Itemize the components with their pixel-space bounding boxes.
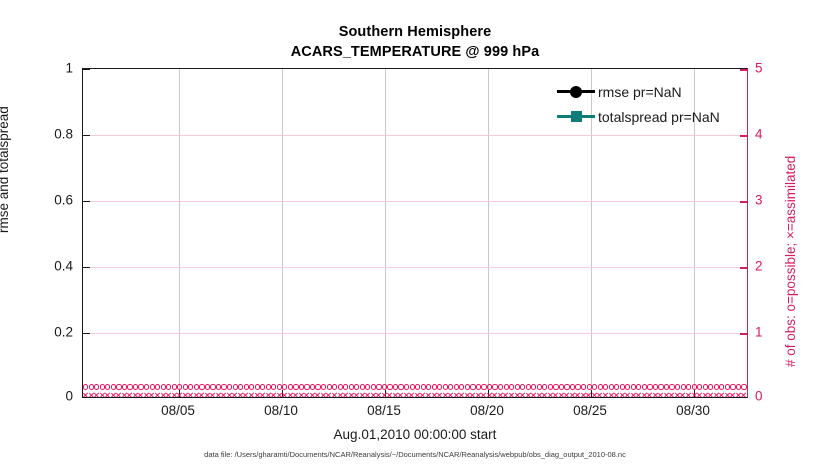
obs-assimilated-marker-icon xyxy=(105,392,111,398)
obs-possible-marker-icon xyxy=(686,384,691,389)
obs-marker xyxy=(337,383,343,391)
obs-marker xyxy=(221,391,227,398)
obs-assimilated-marker-icon xyxy=(442,392,448,398)
obs-assimilated-marker-icon xyxy=(376,392,382,398)
obs-marker xyxy=(354,391,360,398)
obs-marker xyxy=(94,383,100,391)
obs-possible-marker-icon xyxy=(199,384,204,389)
obs-assimilated-marker-icon xyxy=(674,392,680,398)
x-tick xyxy=(591,390,592,397)
legend-swatch-totalspread xyxy=(556,108,596,126)
obs-assimilated-marker-icon xyxy=(475,392,481,398)
obs-possible-marker-icon xyxy=(404,384,409,389)
obs-possible-marker-icon xyxy=(216,384,221,389)
obs-marker xyxy=(133,391,139,398)
obs-marker xyxy=(133,383,139,391)
x-tick xyxy=(179,390,180,397)
obs-marker xyxy=(100,391,106,398)
obs-possible-marker-icon xyxy=(205,384,210,389)
obs-assimilated-marker-icon xyxy=(453,392,459,398)
obs-marker xyxy=(221,383,227,391)
obs-marker xyxy=(603,383,609,391)
obs-marker xyxy=(431,391,437,398)
obs-possible-marker-icon xyxy=(515,384,520,389)
obs-assimilated-marker-icon xyxy=(708,392,714,398)
obs-marker xyxy=(498,383,504,391)
obs-marker xyxy=(730,391,736,398)
obs-assimilated-marker-icon xyxy=(370,392,376,398)
obs-assimilated-marker-icon xyxy=(99,392,105,398)
obs-assimilated-marker-icon xyxy=(237,392,243,398)
obs-assimilated-marker-icon xyxy=(658,392,664,398)
y-axis-title-left: rmse and totalspread xyxy=(0,106,11,233)
obs-marker xyxy=(470,391,476,398)
obs-marker xyxy=(653,383,659,391)
obs-possible-marker-icon xyxy=(459,384,464,389)
data-file-note: data file: /Users/gharamti/Documents/NCA… xyxy=(82,450,748,459)
obs-assimilated-marker-icon xyxy=(508,392,514,398)
obs-marker xyxy=(620,383,626,391)
obs-marker xyxy=(443,391,449,398)
obs-assimilated-marker-icon xyxy=(470,392,476,398)
obs-possible-marker-icon xyxy=(542,384,547,389)
obs-possible-marker-icon xyxy=(371,384,376,389)
obs-marker xyxy=(376,383,382,391)
obs-possible-marker-icon xyxy=(233,384,238,389)
obs-marker xyxy=(537,391,543,398)
obs-marker xyxy=(216,391,222,398)
obs-assimilated-marker-icon xyxy=(265,392,271,398)
obs-assimilated-marker-icon xyxy=(685,392,691,398)
obs-marker xyxy=(719,383,725,391)
obs-marker xyxy=(127,391,133,398)
obs-marker xyxy=(138,391,144,398)
obs-marker xyxy=(254,383,260,391)
obs-marker xyxy=(503,391,509,398)
obs-assimilated-marker-icon xyxy=(359,392,365,398)
obs-marker xyxy=(465,391,471,398)
obs-possible-marker-icon xyxy=(310,384,315,389)
obs-marker xyxy=(481,391,487,398)
obs-marker xyxy=(232,383,238,391)
obs-possible-marker-icon xyxy=(537,384,542,389)
legend-item-totalspread[interactable]: totalspread pr=NaN xyxy=(556,107,720,126)
obs-possible-marker-icon xyxy=(332,384,337,389)
obs-marker xyxy=(122,391,128,398)
obs-marker xyxy=(542,391,548,398)
y-axis-label-right: 2 xyxy=(755,259,763,274)
obs-assimilated-marker-icon xyxy=(641,392,647,398)
obs-marker xyxy=(636,391,642,398)
obs-possible-marker-icon xyxy=(94,384,99,389)
obs-marker xyxy=(526,391,532,398)
obs-marker xyxy=(299,391,305,398)
obs-assimilated-marker-icon xyxy=(597,392,603,398)
obs-possible-marker-icon xyxy=(398,384,403,389)
x-tick xyxy=(282,390,283,397)
obs-marker xyxy=(254,391,260,398)
obs-assimilated-marker-icon xyxy=(697,392,703,398)
obs-marker xyxy=(631,383,637,391)
gridline-horizontal xyxy=(83,135,747,136)
legend-item-rmse[interactable]: rmse pr=NaN xyxy=(556,82,720,101)
obs-marker xyxy=(144,391,150,398)
obs-marker xyxy=(719,391,725,398)
obs-possible-marker-icon xyxy=(376,384,381,389)
obs-possible-marker-icon xyxy=(260,384,265,389)
obs-assimilated-marker-icon xyxy=(121,392,127,398)
obs-possible-marker-icon xyxy=(89,384,94,389)
y-tick-right xyxy=(740,201,747,203)
obs-possible-marker-icon xyxy=(736,384,741,389)
obs-possible-marker-icon xyxy=(553,384,558,389)
obs-marker xyxy=(725,391,731,398)
obs-marker xyxy=(642,391,648,398)
obs-marker xyxy=(531,383,537,391)
obs-marker xyxy=(183,391,189,398)
obs-marker xyxy=(393,391,399,398)
obs-assimilated-marker-icon xyxy=(591,392,597,398)
obs-assimilated-marker-icon xyxy=(226,392,232,398)
obs-marker xyxy=(459,383,465,391)
obs-possible-marker-icon xyxy=(581,384,586,389)
obs-possible-marker-icon xyxy=(282,384,287,389)
obs-assimilated-marker-icon xyxy=(713,392,719,398)
obs-possible-marker-icon xyxy=(498,384,503,389)
obs-marker xyxy=(387,383,393,391)
obs-possible-marker-icon xyxy=(653,384,658,389)
obs-marker xyxy=(205,391,211,398)
obs-marker xyxy=(608,383,614,391)
obs-assimilated-marker-icon xyxy=(116,392,122,398)
obs-marker xyxy=(603,391,609,398)
obs-marker xyxy=(343,383,349,391)
obs-marker xyxy=(708,383,714,391)
obs-marker xyxy=(293,391,299,398)
obs-assimilated-marker-icon xyxy=(254,392,260,398)
obs-marker xyxy=(548,391,554,398)
x-tick xyxy=(488,390,489,397)
obs-assimilated-marker-icon xyxy=(143,392,149,398)
obs-row-possible xyxy=(83,383,747,391)
obs-marker xyxy=(503,383,509,391)
obs-possible-marker-icon xyxy=(150,384,155,389)
obs-assimilated-marker-icon xyxy=(249,392,255,398)
obs-marker xyxy=(459,391,465,398)
y-axis-label-left: 0.2 xyxy=(54,325,73,340)
obs-assimilated-marker-icon xyxy=(94,392,100,398)
obs-marker-band xyxy=(83,383,747,398)
obs-marker xyxy=(736,383,742,391)
obs-assimilated-marker-icon xyxy=(326,392,332,398)
obs-marker xyxy=(664,391,670,398)
obs-assimilated-marker-icon xyxy=(553,392,559,398)
obs-marker xyxy=(299,383,305,391)
square-marker-icon xyxy=(571,111,582,122)
obs-marker xyxy=(680,391,686,398)
obs-assimilated-marker-icon xyxy=(210,392,216,398)
y-axis-label-right: 1 xyxy=(755,325,763,340)
obs-assimilated-marker-icon xyxy=(271,392,277,398)
obs-assimilated-marker-icon xyxy=(547,392,553,398)
obs-marker xyxy=(714,383,720,391)
obs-possible-marker-icon xyxy=(548,384,553,389)
obs-marker xyxy=(597,383,603,391)
obs-possible-marker-icon xyxy=(194,384,199,389)
obs-assimilated-marker-icon xyxy=(204,392,210,398)
obs-marker xyxy=(415,383,421,391)
obs-marker xyxy=(642,383,648,391)
obs-row-assimilated xyxy=(83,391,747,398)
obs-marker xyxy=(498,391,504,398)
obs-marker xyxy=(271,391,277,398)
obs-marker xyxy=(680,383,686,391)
obs-possible-marker-icon xyxy=(448,384,453,389)
obs-possible-marker-icon xyxy=(244,384,249,389)
obs-possible-marker-icon xyxy=(559,384,564,389)
x-axis-label: 08/30 xyxy=(676,403,710,418)
obs-marker xyxy=(227,383,233,391)
obs-marker xyxy=(675,391,681,398)
obs-marker xyxy=(454,391,460,398)
obs-assimilated-marker-icon xyxy=(481,392,487,398)
obs-assimilated-marker-icon xyxy=(564,392,570,398)
obs-marker xyxy=(243,383,249,391)
obs-marker xyxy=(703,383,709,391)
obs-possible-marker-icon xyxy=(166,384,171,389)
obs-marker xyxy=(620,391,626,398)
y-axis-label-left: 0.4 xyxy=(54,259,73,274)
obs-possible-marker-icon xyxy=(255,384,260,389)
obs-marker xyxy=(675,383,681,391)
obs-assimilated-marker-icon xyxy=(315,392,321,398)
obs-marker xyxy=(465,383,471,391)
obs-possible-marker-icon xyxy=(741,384,746,389)
obs-marker xyxy=(697,383,703,391)
obs-assimilated-marker-icon xyxy=(365,392,371,398)
obs-possible-marker-icon xyxy=(105,384,110,389)
gridline-horizontal xyxy=(83,267,747,268)
obs-marker xyxy=(304,383,310,391)
obs-assimilated-marker-icon xyxy=(614,392,620,398)
obs-assimilated-marker-icon xyxy=(132,392,138,398)
obs-possible-marker-icon xyxy=(188,384,193,389)
obs-assimilated-marker-icon xyxy=(431,392,437,398)
obs-marker xyxy=(636,383,642,391)
obs-possible-marker-icon xyxy=(138,384,143,389)
obs-possible-marker-icon xyxy=(470,384,475,389)
obs-marker xyxy=(426,391,432,398)
obs-possible-marker-icon xyxy=(426,384,431,389)
gridline-horizontal xyxy=(83,333,747,334)
obs-marker xyxy=(415,391,421,398)
obs-assimilated-marker-icon xyxy=(154,392,160,398)
obs-marker xyxy=(409,383,415,391)
obs-possible-marker-icon xyxy=(227,384,232,389)
y-axis-label-right: 5 xyxy=(755,61,763,76)
obs-marker xyxy=(160,391,166,398)
obs-marker xyxy=(387,391,393,398)
circle-marker-icon xyxy=(570,86,582,98)
obs-marker xyxy=(697,391,703,398)
obs-marker xyxy=(349,383,355,391)
obs-assimilated-marker-icon xyxy=(730,392,736,398)
obs-marker xyxy=(116,383,122,391)
y-tick-right xyxy=(740,397,747,398)
obs-possible-marker-icon xyxy=(432,384,437,389)
obs-possible-marker-icon xyxy=(730,384,735,389)
obs-assimilated-marker-icon xyxy=(569,392,575,398)
obs-marker xyxy=(232,391,238,398)
obs-marker xyxy=(321,391,327,398)
obs-assimilated-marker-icon xyxy=(647,392,653,398)
obs-assimilated-marker-icon xyxy=(293,392,299,398)
obs-marker xyxy=(448,391,454,398)
obs-assimilated-marker-icon xyxy=(160,392,166,398)
obs-assimilated-marker-icon xyxy=(741,392,747,398)
obs-marker xyxy=(454,383,460,391)
obs-marker xyxy=(249,391,255,398)
obs-marker xyxy=(266,391,272,398)
obs-possible-marker-icon xyxy=(266,384,271,389)
obs-assimilated-marker-icon xyxy=(304,392,310,398)
obs-marker xyxy=(647,391,653,398)
obs-marker xyxy=(155,391,161,398)
obs-marker xyxy=(83,383,89,391)
obs-assimilated-marker-icon xyxy=(414,392,420,398)
obs-possible-marker-icon xyxy=(354,384,359,389)
y-tick-right xyxy=(740,333,747,335)
obs-assimilated-marker-icon xyxy=(127,392,133,398)
obs-marker xyxy=(349,391,355,398)
obs-assimilated-marker-icon xyxy=(398,392,404,398)
x-axis-label: 08/10 xyxy=(264,403,298,418)
obs-possible-marker-icon xyxy=(111,384,116,389)
obs-assimilated-marker-icon xyxy=(702,392,708,398)
obs-possible-marker-icon xyxy=(127,384,132,389)
obs-marker xyxy=(166,391,172,398)
obs-possible-marker-icon xyxy=(714,384,719,389)
obs-marker xyxy=(553,383,559,391)
obs-assimilated-marker-icon xyxy=(580,392,586,398)
obs-marker xyxy=(116,391,122,398)
obs-marker xyxy=(570,391,576,398)
obs-possible-marker-icon xyxy=(304,384,309,389)
obs-possible-marker-icon xyxy=(365,384,370,389)
y-axis-label-left: 0 xyxy=(65,389,73,404)
obs-marker xyxy=(526,383,532,391)
obs-marker xyxy=(94,391,100,398)
obs-assimilated-marker-icon xyxy=(514,392,520,398)
obs-marker xyxy=(188,391,194,398)
obs-assimilated-marker-icon xyxy=(110,392,116,398)
obs-marker xyxy=(105,383,111,391)
obs-marker xyxy=(304,391,310,398)
legend-swatch-rmse xyxy=(556,83,596,101)
obs-possible-marker-icon xyxy=(504,384,509,389)
obs-possible-marker-icon xyxy=(443,384,448,389)
obs-possible-marker-icon xyxy=(725,384,730,389)
x-axis-label: 08/15 xyxy=(367,403,401,418)
obs-assimilated-marker-icon xyxy=(652,392,658,398)
obs-possible-marker-icon xyxy=(421,384,426,389)
obs-assimilated-marker-icon xyxy=(575,392,581,398)
obs-marker xyxy=(608,391,614,398)
obs-marker xyxy=(326,383,332,391)
legend-label-rmse: rmse pr=NaN xyxy=(596,84,682,100)
obs-marker xyxy=(509,383,515,391)
obs-marker xyxy=(437,391,443,398)
y-axis-label-right: 3 xyxy=(755,193,763,208)
x-axis-label: 08/05 xyxy=(161,403,195,418)
obs-possible-marker-icon xyxy=(293,384,298,389)
obs-marker xyxy=(443,383,449,391)
obs-assimilated-marker-icon xyxy=(426,392,432,398)
obs-marker xyxy=(409,391,415,398)
obs-marker xyxy=(420,391,426,398)
obs-possible-marker-icon xyxy=(393,384,398,389)
obs-marker xyxy=(155,383,161,391)
obs-assimilated-marker-icon xyxy=(331,392,337,398)
obs-marker xyxy=(122,383,128,391)
obs-marker xyxy=(343,391,349,398)
obs-marker xyxy=(686,391,692,398)
obs-possible-marker-icon xyxy=(592,384,597,389)
obs-marker xyxy=(89,383,95,391)
obs-assimilated-marker-icon xyxy=(337,392,343,398)
obs-assimilated-marker-icon xyxy=(625,392,631,398)
obs-possible-marker-icon xyxy=(288,384,293,389)
obs-marker xyxy=(266,383,272,391)
obs-marker xyxy=(614,391,620,398)
obs-assimilated-marker-icon xyxy=(193,392,199,398)
obs-possible-marker-icon xyxy=(144,384,149,389)
obs-marker xyxy=(315,391,321,398)
obs-assimilated-marker-icon xyxy=(420,392,426,398)
obs-assimilated-marker-icon xyxy=(403,392,409,398)
obs-marker xyxy=(354,383,360,391)
obs-possible-marker-icon xyxy=(625,384,630,389)
obs-marker xyxy=(326,391,332,398)
obs-marker xyxy=(686,383,692,391)
obs-possible-marker-icon xyxy=(343,384,348,389)
obs-marker xyxy=(476,391,482,398)
chart-subtitle: ACARS_TEMPERATURE @ 999 hPa xyxy=(82,42,748,62)
obs-marker xyxy=(553,391,559,398)
obs-marker xyxy=(100,383,106,391)
obs-marker xyxy=(271,383,277,391)
obs-marker xyxy=(664,383,670,391)
obs-assimilated-marker-icon xyxy=(320,392,326,398)
obs-marker xyxy=(404,391,410,398)
obs-assimilated-marker-icon xyxy=(199,392,205,398)
obs-marker xyxy=(592,383,598,391)
obs-marker xyxy=(631,391,637,398)
obs-assimilated-marker-icon xyxy=(663,392,669,398)
obs-marker xyxy=(183,383,189,391)
obs-marker xyxy=(321,383,327,391)
obs-marker xyxy=(332,391,338,398)
obs-possible-marker-icon xyxy=(642,384,647,389)
obs-marker xyxy=(111,383,117,391)
obs-assimilated-marker-icon xyxy=(392,392,398,398)
obs-possible-marker-icon xyxy=(454,384,459,389)
obs-assimilated-marker-icon xyxy=(608,392,614,398)
obs-marker xyxy=(393,383,399,391)
obs-assimilated-marker-icon xyxy=(354,392,360,398)
obs-possible-marker-icon xyxy=(609,384,614,389)
obs-marker xyxy=(625,391,631,398)
